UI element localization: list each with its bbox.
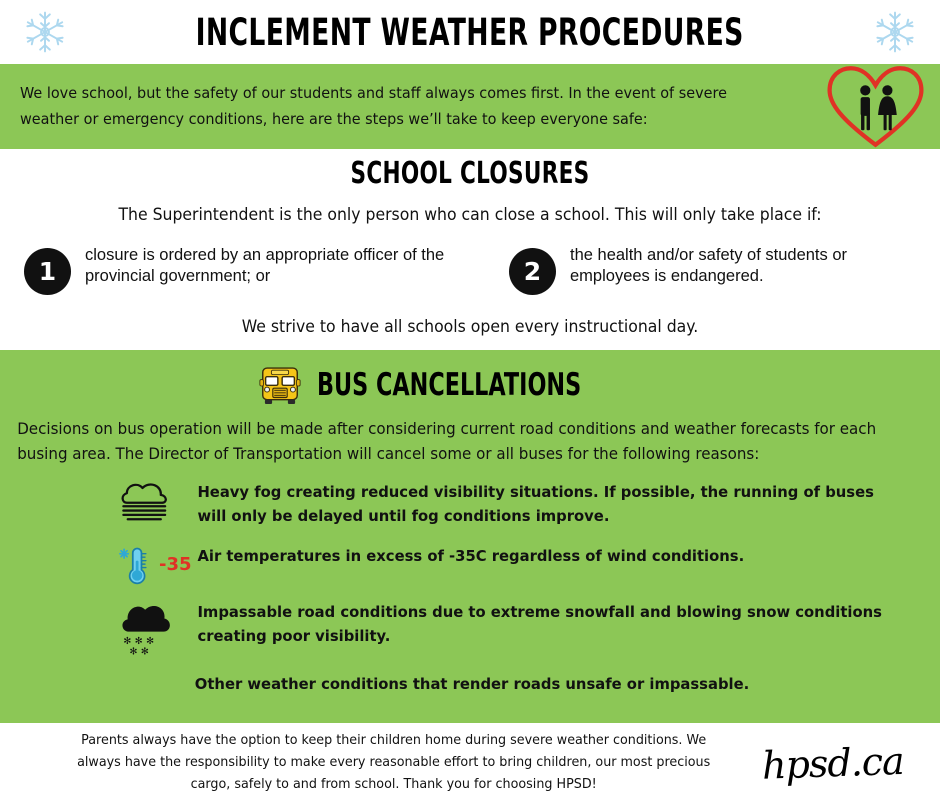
snowflake-icon (23, 10, 67, 54)
snowflake-icon (873, 10, 917, 54)
school-closures-section: SCHOOL CLOSURES The Superintendent is th… (0, 149, 940, 336)
school-closures-closing: We strive to have all schools open every… (24, 317, 917, 336)
svg-text:✻: ✻ (123, 636, 131, 647)
list-item: 1 closure is ordered by an appropriate o… (24, 244, 469, 295)
svg-text:✻: ✻ (146, 636, 154, 647)
list-number-badge: 2 (509, 248, 556, 295)
list-item: -35 Air temperatures in excess of -35C r… (118, 545, 920, 585)
list-item-text: Impassable road conditions due to extrem… (184, 601, 891, 649)
intro-banner: We love school, but the safety of our st… (0, 64, 940, 149)
list-item-text: Heavy fog creating reduced visibility si… (184, 481, 891, 529)
hpsd-logo: hpsd.ca (762, 738, 923, 788)
school-bus-icon (257, 365, 303, 407)
bus-cancellations-section: BUS CANCELLATIONS Decisions on bus opera… (0, 350, 940, 723)
heart-with-two-people-icon (823, 66, 928, 148)
list-item-text: Other weather conditions that render roa… (118, 673, 749, 697)
svg-text:✻: ✻ (135, 636, 143, 647)
school-closures-heading: SCHOOL CLOSURES (132, 157, 809, 191)
list-item-text: closure is ordered by an appropriate off… (71, 244, 469, 289)
footer-text: Parents always have the option to keep t… (25, 730, 744, 795)
list-number-badge: 1 (24, 248, 71, 295)
list-item-text: Air temperatures in excess of -35C regar… (184, 545, 744, 569)
fog-cloud-icon (118, 481, 184, 521)
page-title: INCLEMENT WEATHER PROCEDURES (196, 14, 744, 51)
intro-text: We love school, but the safety of our st… (20, 81, 767, 131)
bus-cancellations-heading-row: BUS CANCELLATIONS (0, 362, 940, 410)
svg-text:✻: ✻ (129, 646, 137, 657)
list-item: Heavy fog creating reduced visibility si… (118, 481, 920, 529)
footer: Parents always have the option to keep t… (0, 723, 940, 803)
inclement-weather-poster: INCLEMENT WEATHER PROCEDURES (0, 0, 940, 788)
bus-cancellations-paragraph: Decisions on bus operation will be made … (0, 410, 898, 467)
title-bar: INCLEMENT WEATHER PROCEDURES (0, 0, 940, 64)
bus-cancellation-reasons: Heavy fog creating reduced visibility si… (0, 481, 940, 697)
svg-text:✻: ✻ (141, 646, 149, 657)
list-item: Other weather conditions that render roa… (118, 673, 920, 697)
bus-cancellations-heading: BUS CANCELLATIONS (317, 370, 581, 401)
list-item-text: the health and/or safety of students or … (556, 244, 914, 289)
school-closures-lead: The Superintendent is the only person wh… (24, 205, 917, 224)
closure-conditions-list: 1 closure is ordered by an appropriate o… (0, 244, 940, 295)
list-item: 2 the health and/or safety of students o… (469, 244, 914, 295)
list-item: ✻ ✻ ✻ ✻ ✻ Impassable road conditions due… (118, 601, 920, 657)
thermometer-snowflake-icon: -35 (118, 545, 184, 585)
snow-cloud-icon: ✻ ✻ ✻ ✻ ✻ (118, 601, 184, 657)
